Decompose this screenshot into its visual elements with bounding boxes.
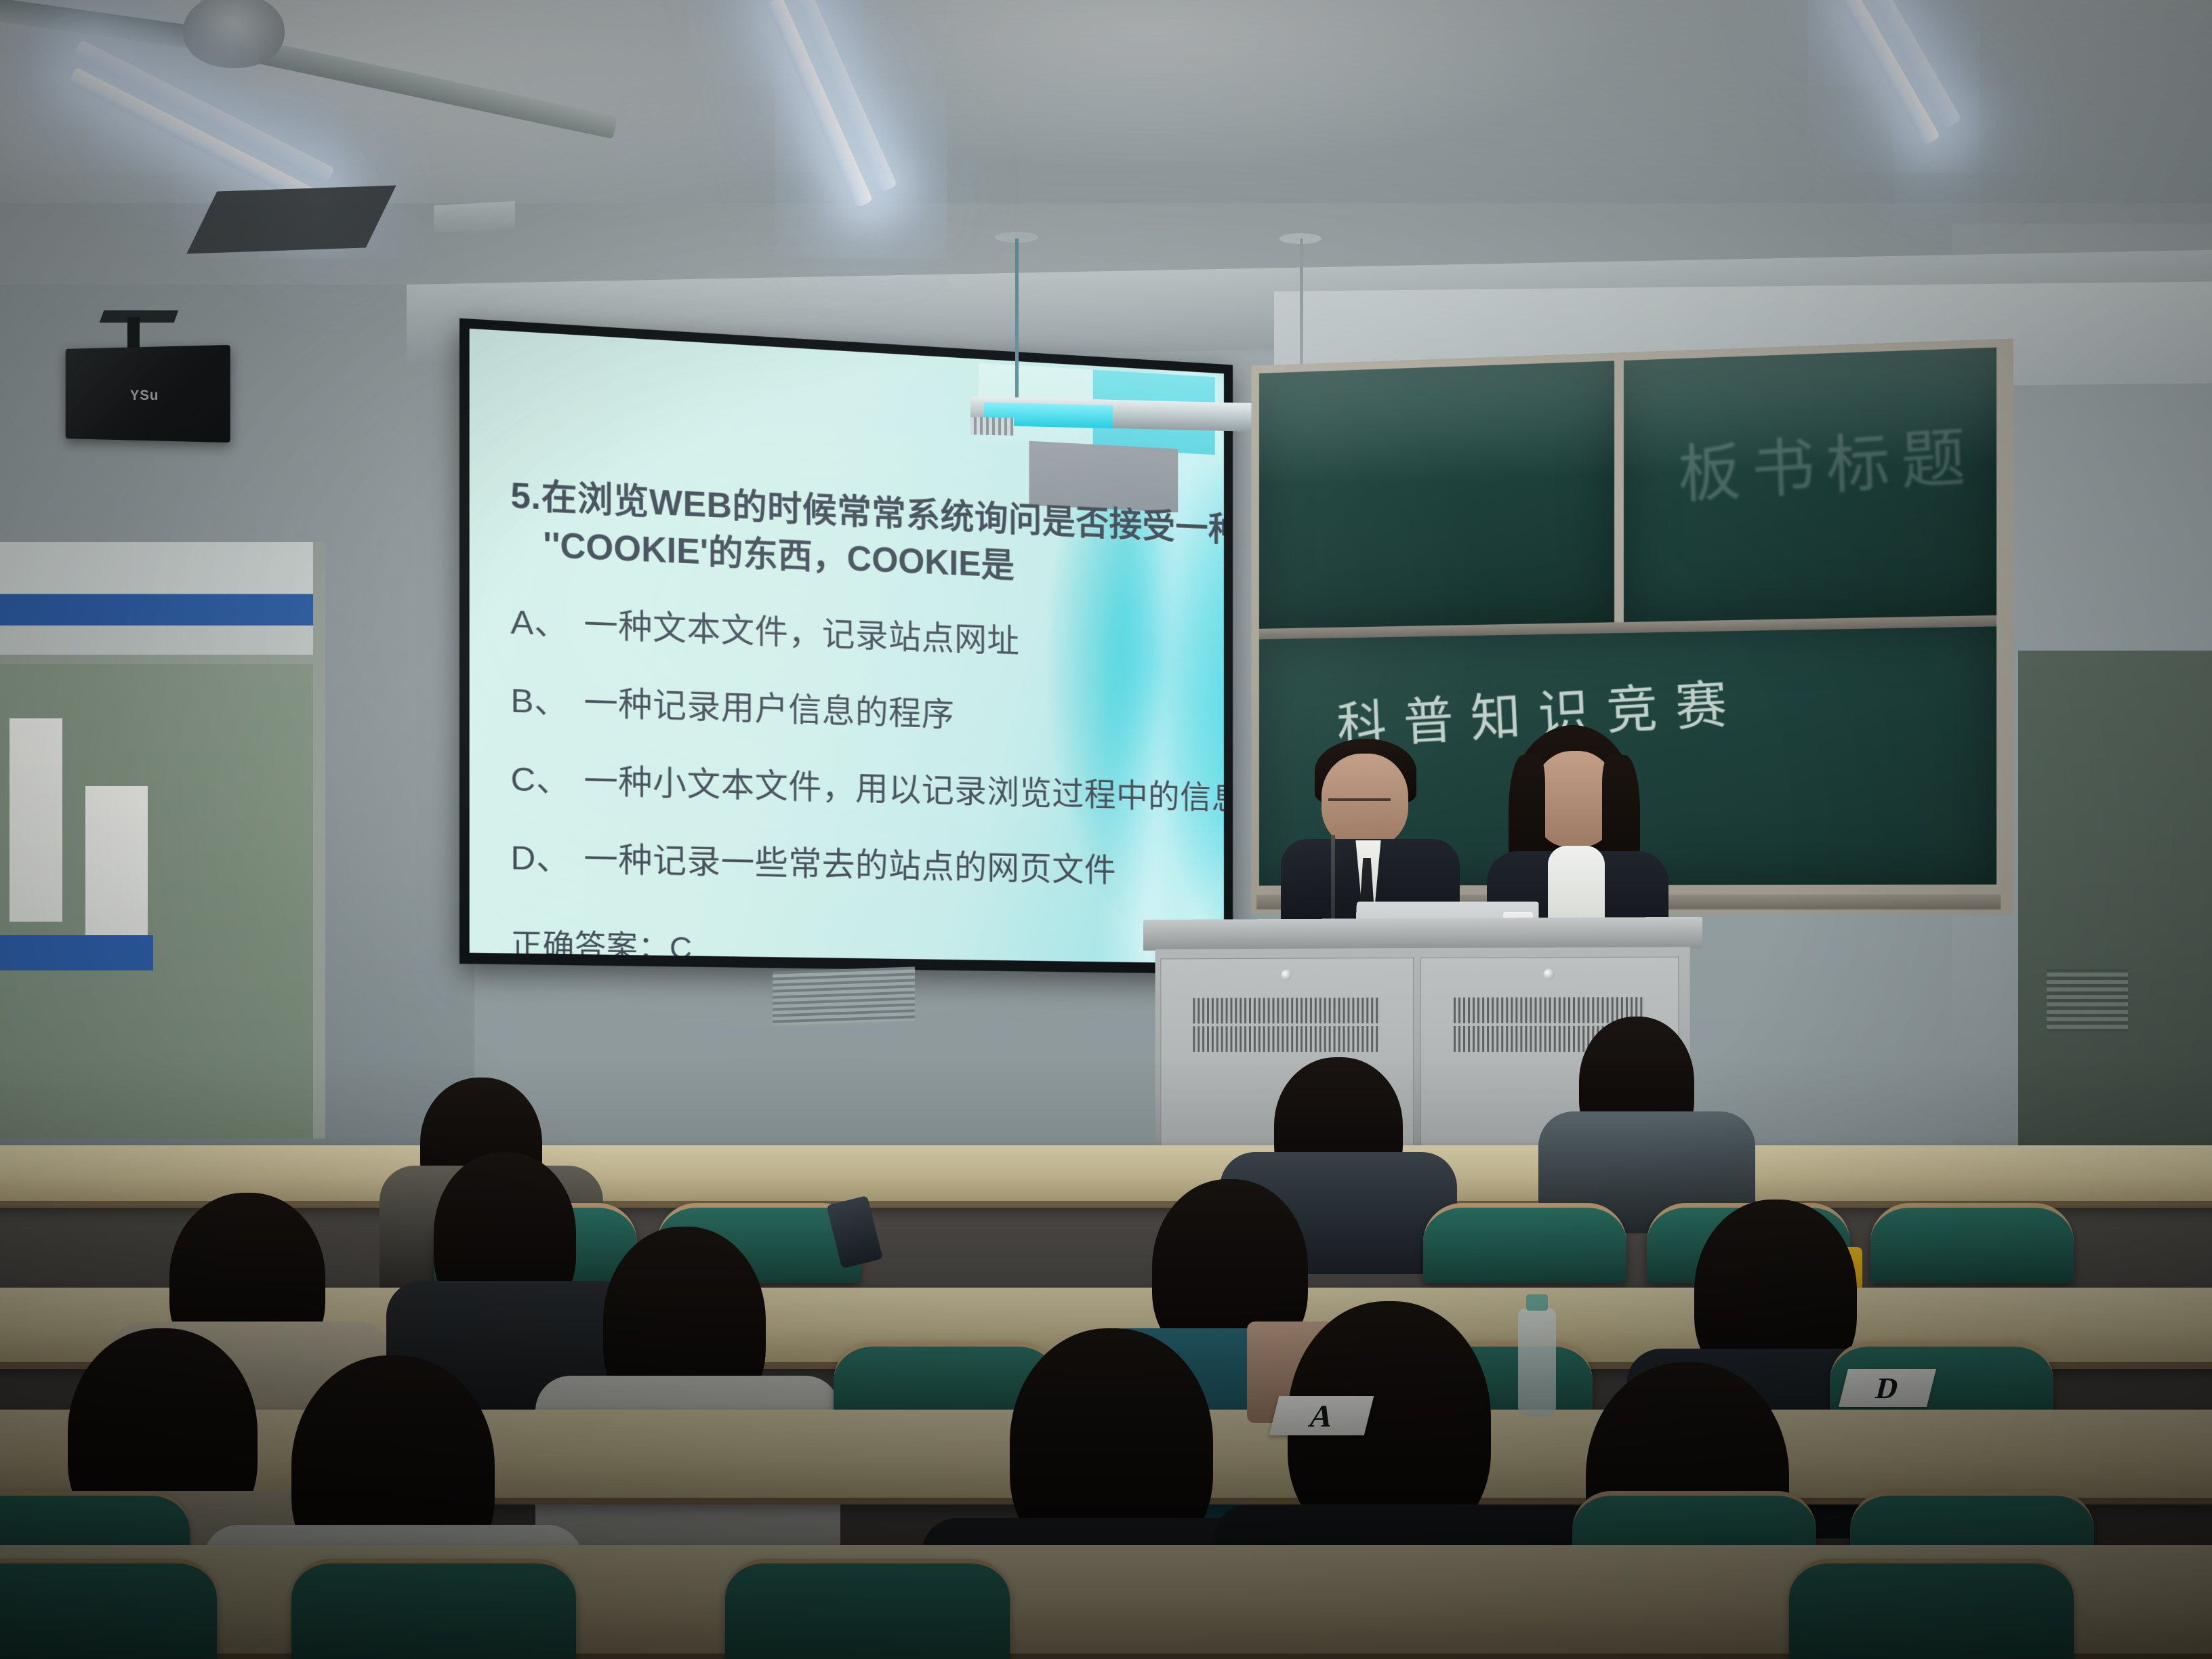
slide-option-b: B、 一种记录用户信息的程序 xyxy=(510,680,1198,744)
hallway-poster xyxy=(85,786,148,956)
option-b-label: B、 xyxy=(510,680,578,724)
slide-correct-answer: 正确答案：C xyxy=(510,926,1198,964)
option-c-text: 一种小文本文件，用以记录浏览过程中的信息 xyxy=(583,760,1224,819)
answer-card[interactable]: D xyxy=(1839,1369,1936,1407)
lecture-seat[interactable] xyxy=(1423,1203,1626,1283)
answer-card[interactable]: A xyxy=(1269,1396,1374,1435)
hanging-tube-light-end-cap xyxy=(970,417,1014,436)
podium-worktop xyxy=(1143,917,1702,951)
blackboard-panel-top-left xyxy=(1259,361,1614,630)
seat-row xyxy=(0,1203,2212,1277)
slide-option-c: C、 一种小文本文件，用以记录浏览过程中的信息 xyxy=(510,758,1198,818)
speaker-brand-label: YSu xyxy=(130,388,159,404)
hanging-fixture-rod xyxy=(1015,239,1019,407)
glasses-icon xyxy=(1328,798,1391,809)
lock-icon[interactable] xyxy=(1544,968,1555,979)
desk-row xyxy=(0,1145,2212,1208)
wall-speaker: YSu xyxy=(66,345,230,443)
front-wall-vent-icon xyxy=(773,966,915,1025)
option-d-label: D、 xyxy=(510,837,578,880)
ceiling-fan-motor xyxy=(183,0,285,68)
classroom-scene: YSu 5.在浏览WEB的时候常常系统询问是否接受一种叫 ''COOKIE'的东… xyxy=(0,0,2212,1659)
blackboard-panel-top-right: 板书标题 xyxy=(1624,348,1996,623)
water-bottle xyxy=(1518,1308,1556,1416)
option-a-label: A、 xyxy=(510,602,578,647)
speaker-mount-arm xyxy=(127,317,140,351)
right-doorway-alcove[interactable] xyxy=(2018,651,2212,1166)
option-b-text: 一种记录用户信息的程序 xyxy=(583,682,954,736)
slide-content: 5.在浏览WEB的时候常常系统询问是否接受一种叫 ''COOKIE'的东西，CO… xyxy=(510,474,1198,964)
lecture-seat[interactable] xyxy=(291,1559,576,1659)
left-door-transom-window xyxy=(0,542,313,664)
ceiling-vent xyxy=(434,201,515,232)
option-c-label: C、 xyxy=(510,758,578,802)
lecture-seat[interactable] xyxy=(0,1559,217,1659)
slide-option-a: A、 一种文本文件，记录站点网址 xyxy=(510,602,1198,670)
blackboard-glare xyxy=(1259,361,1614,485)
option-a-text: 一种文本文件，记录站点网址 xyxy=(583,605,1019,663)
ceiling-access-hatch xyxy=(186,185,396,253)
option-d-text: 一种记录一些常去的站点的网页文件 xyxy=(583,838,1116,891)
wall-vent-icon xyxy=(2047,969,2128,1031)
slide-option-d: D、 一种记录一些常去的站点的网页文件 xyxy=(510,837,1198,893)
hallway-poster xyxy=(9,718,62,922)
lecture-seat[interactable] xyxy=(1870,1203,2074,1283)
lecture-seat[interactable] xyxy=(1789,1559,2074,1659)
seat-row xyxy=(0,1559,2212,1633)
vent-grille-icon xyxy=(1193,998,1380,1023)
hallway-wall-stripe xyxy=(0,935,153,970)
lecture-seat[interactable] xyxy=(725,1559,1010,1659)
vent-grille-icon xyxy=(1193,1026,1380,1052)
blackboard-upper-chalk-text: 板书标题 xyxy=(1677,405,1978,515)
lock-icon[interactable] xyxy=(1281,970,1292,981)
bottle-cap xyxy=(1526,1294,1548,1311)
